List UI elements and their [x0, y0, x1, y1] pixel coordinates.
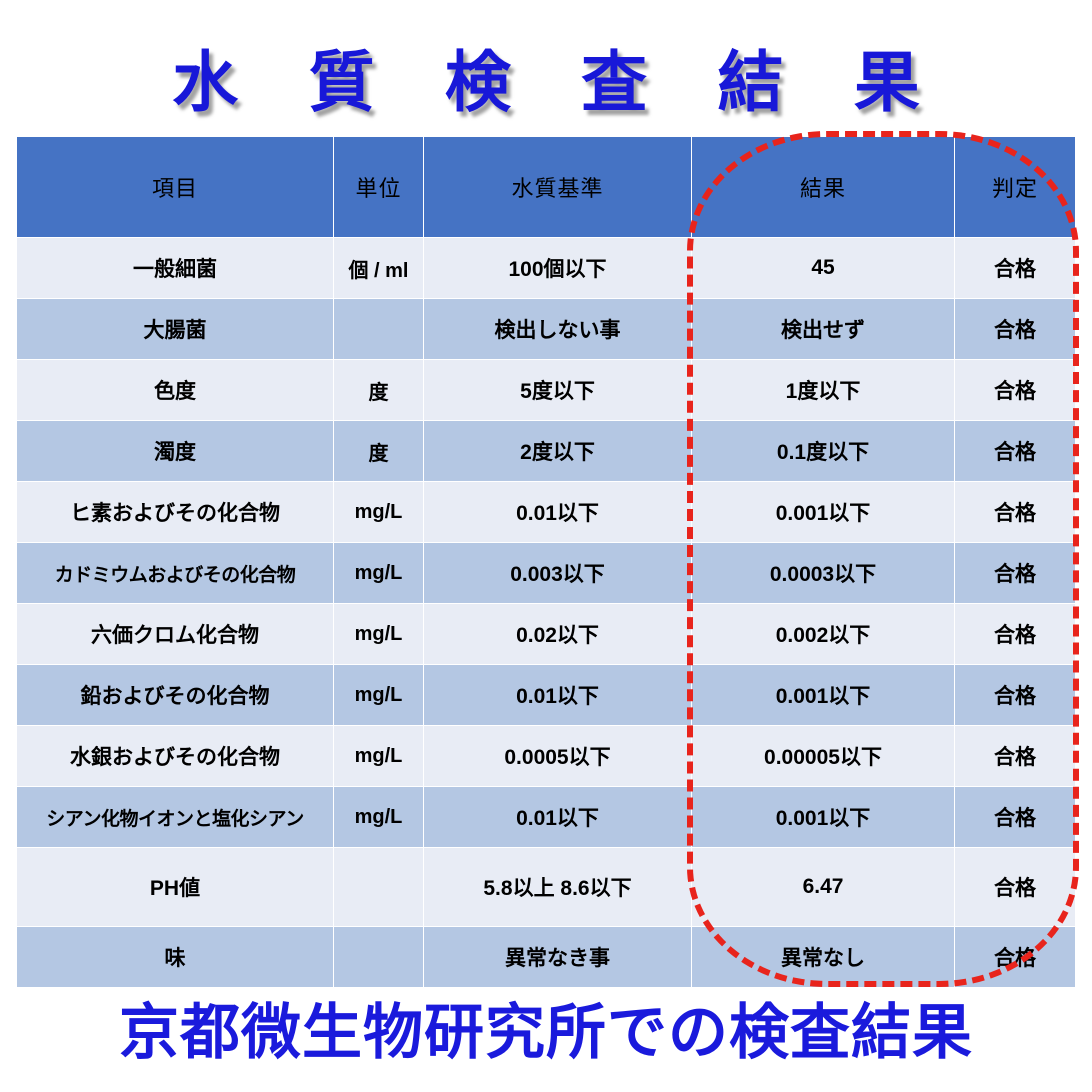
- table-row: 大腸菌検出しない事検出せず合格: [17, 299, 1076, 360]
- cell-judgement: 合格: [955, 726, 1076, 787]
- cell-judgement: 合格: [955, 787, 1076, 848]
- cell-standard: 0.01以下: [424, 665, 692, 726]
- cell-item: 水銀およびその化合物: [17, 726, 334, 787]
- cell-item: 一般細菌: [17, 238, 334, 299]
- cell-result: 0.002以下: [692, 604, 955, 665]
- cell-unit: 度: [334, 421, 424, 482]
- cell-result: 0.1度以下: [692, 421, 955, 482]
- table-row: ヒ素およびその化合物mg/L0.01以下0.001以下合格: [17, 482, 1076, 543]
- cell-unit: 度: [334, 360, 424, 421]
- cell-standard: 5.8以上 8.6以下: [424, 848, 692, 927]
- cell-result: 0.001以下: [692, 482, 955, 543]
- page-caption: 京都微生物研究所での検査結果: [0, 996, 1092, 1070]
- page-title: 水 質 検 査 結 果: [0, 42, 1092, 122]
- column-header-standard: 水質基準: [424, 137, 692, 238]
- cell-unit: [334, 927, 424, 988]
- cell-judgement: 合格: [955, 299, 1076, 360]
- cell-standard: 0.01以下: [424, 787, 692, 848]
- cell-standard: 異常なき事: [424, 927, 692, 988]
- cell-judgement: 合格: [955, 238, 1076, 299]
- cell-item: 鉛およびその化合物: [17, 665, 334, 726]
- table-row: PH値5.8以上 8.6以下6.47合格: [17, 848, 1076, 927]
- cell-standard: 5度以下: [424, 360, 692, 421]
- cell-standard: 2度以下: [424, 421, 692, 482]
- cell-result: 1度以下: [692, 360, 955, 421]
- table-row: 味異常なき事異常なし合格: [17, 927, 1076, 988]
- cell-item: 六価クロム化合物: [17, 604, 334, 665]
- table-header: 項目 単位 水質基準 結果 判定: [17, 137, 1076, 238]
- cell-judgement: 合格: [955, 848, 1076, 927]
- cell-unit: mg/L: [334, 726, 424, 787]
- table-body: 一般細菌個 / ml100個以下45合格大腸菌検出しない事検出せず合格色度度5度…: [17, 238, 1076, 988]
- cell-judgement: 合格: [955, 927, 1076, 988]
- cell-standard: 0.02以下: [424, 604, 692, 665]
- water-quality-report-page: 水 質 検 査 結 果 項目 単位 水質基準 結果 判定 一般細菌個 / ml1…: [0, 0, 1092, 1092]
- water-quality-table-wrapper: 項目 単位 水質基準 結果 判定 一般細菌個 / ml100個以下45合格大腸菌…: [16, 136, 1075, 988]
- cell-item: 味: [17, 927, 334, 988]
- cell-result: 0.00005以下: [692, 726, 955, 787]
- cell-judgement: 合格: [955, 482, 1076, 543]
- cell-item: カドミウムおよびその化合物: [17, 543, 334, 604]
- cell-judgement: 合格: [955, 421, 1076, 482]
- cell-standard: 検出しない事: [424, 299, 692, 360]
- cell-unit: mg/L: [334, 787, 424, 848]
- cell-result: 0.0003以下: [692, 543, 955, 604]
- water-quality-table: 項目 単位 水質基準 結果 判定 一般細菌個 / ml100個以下45合格大腸菌…: [16, 136, 1076, 988]
- cell-standard: 0.01以下: [424, 482, 692, 543]
- cell-result: 45: [692, 238, 955, 299]
- cell-judgement: 合格: [955, 604, 1076, 665]
- cell-unit: [334, 848, 424, 927]
- cell-unit: mg/L: [334, 543, 424, 604]
- column-header-result: 結果: [692, 137, 955, 238]
- cell-judgement: 合格: [955, 665, 1076, 726]
- cell-result: 6.47: [692, 848, 955, 927]
- cell-result: 異常なし: [692, 927, 955, 988]
- cell-judgement: 合格: [955, 543, 1076, 604]
- cell-standard: 100個以下: [424, 238, 692, 299]
- cell-item: PH値: [17, 848, 334, 927]
- table-row: 鉛およびその化合物mg/L0.01以下0.001以下合格: [17, 665, 1076, 726]
- column-header-unit: 単位: [334, 137, 424, 238]
- table-row: 六価クロム化合物mg/L0.02以下0.002以下合格: [17, 604, 1076, 665]
- table-row: カドミウムおよびその化合物mg/L0.003以下0.0003以下合格: [17, 543, 1076, 604]
- cell-unit: mg/L: [334, 604, 424, 665]
- cell-unit: [334, 299, 424, 360]
- cell-result: 0.001以下: [692, 787, 955, 848]
- cell-item: シアン化物イオンと塩化シアン: [17, 787, 334, 848]
- table-row: 水銀およびその化合物mg/L0.0005以下0.00005以下合格: [17, 726, 1076, 787]
- cell-unit: mg/L: [334, 665, 424, 726]
- table-row: シアン化物イオンと塩化シアンmg/L0.01以下0.001以下合格: [17, 787, 1076, 848]
- column-header-judgement: 判定: [955, 137, 1076, 238]
- table-row: 濁度度2度以下0.1度以下合格: [17, 421, 1076, 482]
- table-row: 一般細菌個 / ml100個以下45合格: [17, 238, 1076, 299]
- table-row: 色度度5度以下1度以下合格: [17, 360, 1076, 421]
- cell-result: 検出せず: [692, 299, 955, 360]
- cell-standard: 0.0005以下: [424, 726, 692, 787]
- column-header-item: 項目: [17, 137, 334, 238]
- cell-unit: mg/L: [334, 482, 424, 543]
- cell-result: 0.001以下: [692, 665, 955, 726]
- table-header-row: 項目 単位 水質基準 結果 判定: [17, 137, 1076, 238]
- cell-item: 大腸菌: [17, 299, 334, 360]
- cell-standard: 0.003以下: [424, 543, 692, 604]
- cell-item: 色度: [17, 360, 334, 421]
- cell-unit: 個 / ml: [334, 238, 424, 299]
- cell-item: ヒ素およびその化合物: [17, 482, 334, 543]
- cell-judgement: 合格: [955, 360, 1076, 421]
- cell-item: 濁度: [17, 421, 334, 482]
